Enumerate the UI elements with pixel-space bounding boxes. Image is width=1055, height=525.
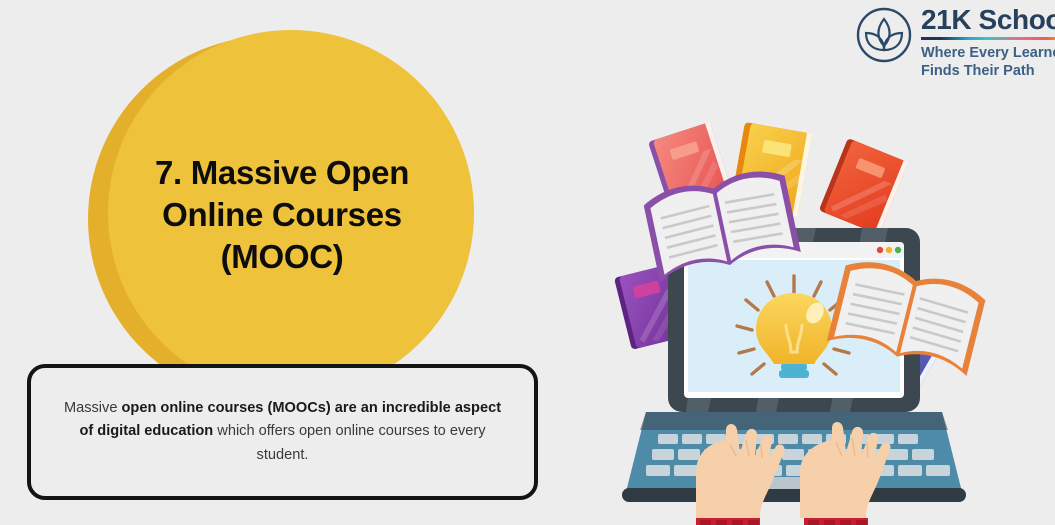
browser-dot-red	[877, 247, 883, 253]
description-segment-0: Massive	[64, 400, 122, 416]
description-text: Massive open online courses (MOOCs) are …	[59, 397, 507, 468]
logo-gradient-rule	[921, 37, 1055, 40]
description-segment-2: which offers open online courses to ever…	[213, 423, 485, 463]
illustration-laptop-books	[600, 100, 1020, 525]
browser-dot-green	[895, 247, 901, 253]
logo-tagline-line2: Finds Their Path	[921, 62, 1055, 80]
logo-tagline: Where Every Learner Finds Their Path	[921, 44, 1055, 80]
logo-tagline-line1: Where Every Learner	[921, 44, 1055, 62]
browser-dot-yellow	[886, 247, 892, 253]
page-title-line1: 7. Massive Open	[92, 152, 472, 194]
page-title: 7. Massive Open Online Courses (MOOC)	[92, 152, 472, 279]
page-title-line3: (MOOC)	[92, 236, 472, 278]
brand-logo[interactable]: 21K School Where Every Learner Finds The…	[855, 4, 1055, 76]
slide-canvas: 21K School Where Every Learner Finds The…	[0, 0, 1055, 525]
keyboard-keys	[646, 434, 950, 476]
page-title-line2: Online Courses	[92, 194, 472, 236]
logo-title: 21K School	[921, 6, 1055, 34]
description-box: Massive open online courses (MOOCs) are …	[27, 364, 538, 500]
book-red-top-right	[819, 138, 908, 235]
lotus-circle-icon	[855, 6, 913, 64]
